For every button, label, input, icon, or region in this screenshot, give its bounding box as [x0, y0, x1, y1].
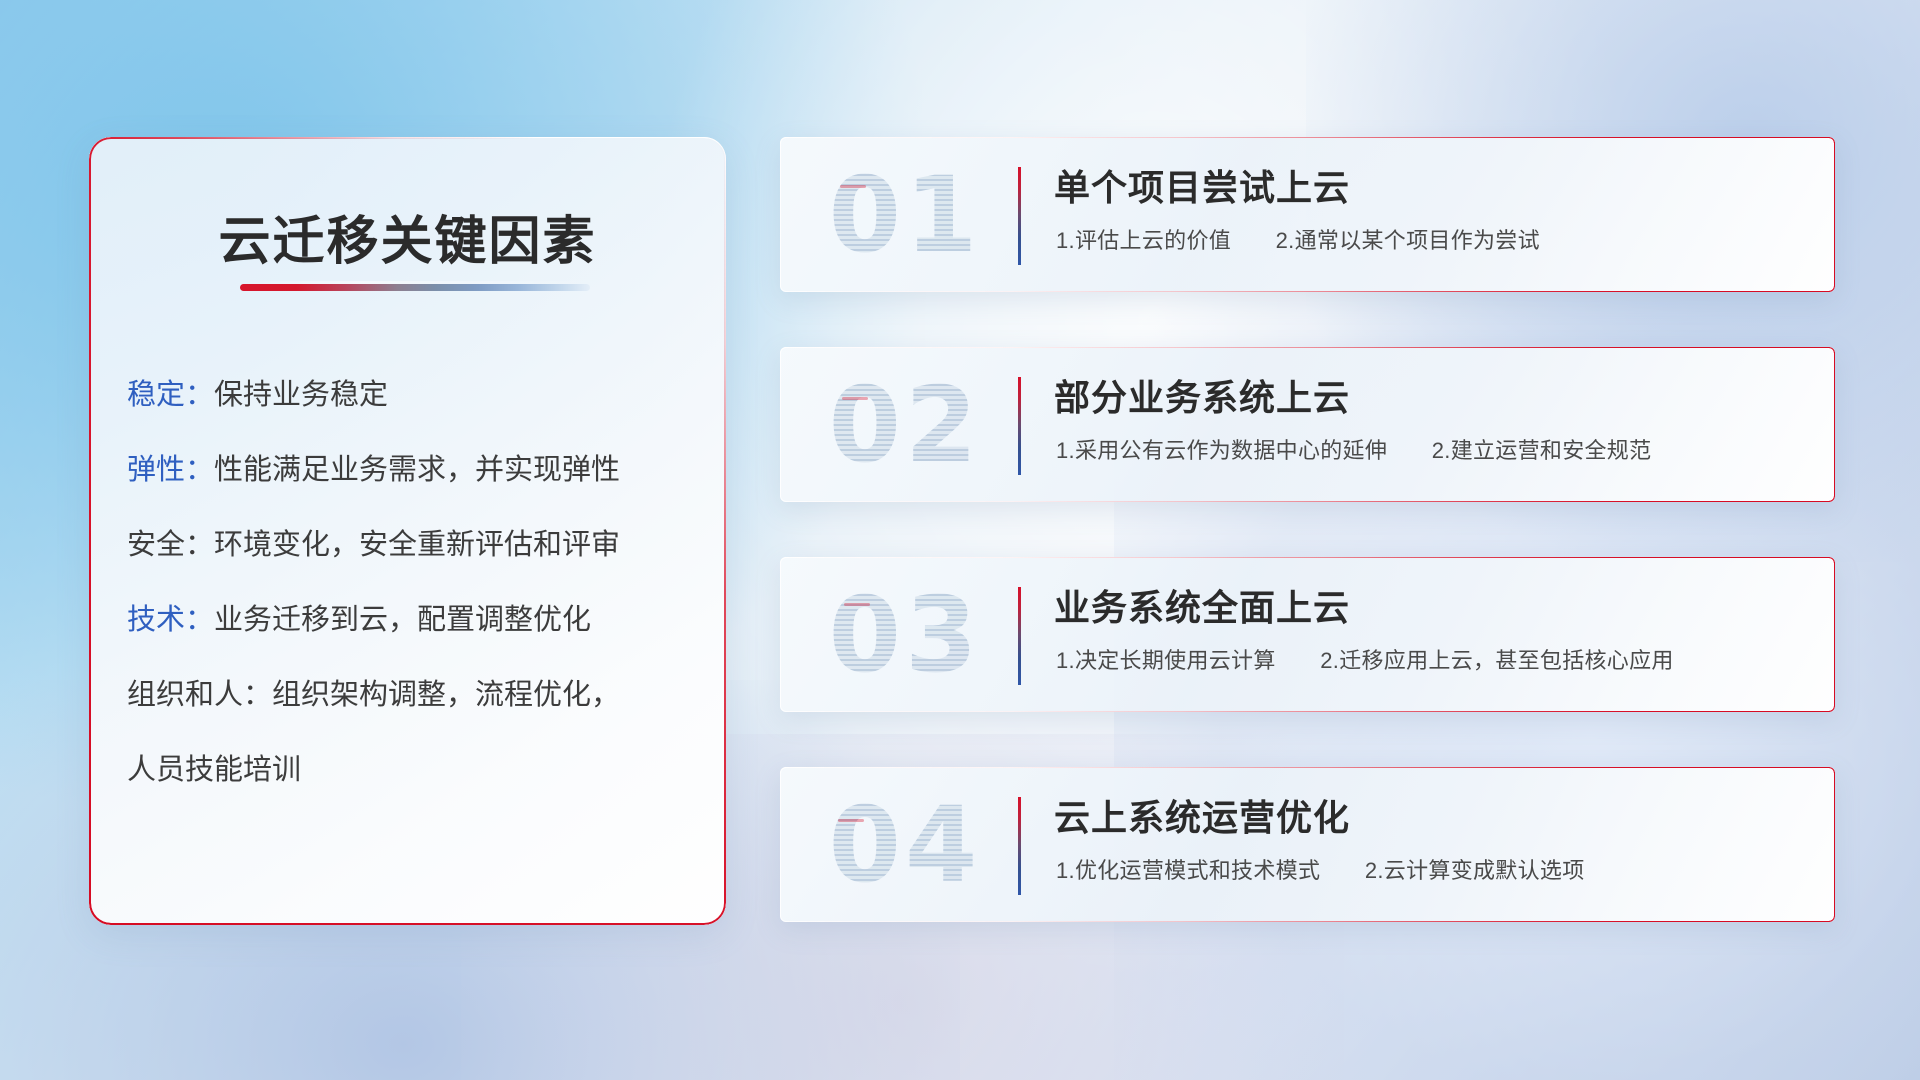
- list-item: 组织和人：组织架构调整，流程优化，: [127, 681, 704, 710]
- number-speck-icon: [838, 819, 864, 822]
- stage-card-01[interactable]: 01 01 单个项目尝试上云 1.评估上云的价值 2.通常以某个项目作为尝试: [780, 137, 1835, 292]
- card-accent-divider: [1018, 797, 1021, 895]
- stage-title: 部分业务系统上云: [1054, 369, 1350, 421]
- stage-subtitle: 1.决定长期使用云计算 2.迁移应用上云，甚至包括核心应用: [1056, 643, 1674, 675]
- stage-title: 业务系统全面上云: [1054, 579, 1350, 631]
- key-factors-panel: 云迁移关键因素 稳定：保持业务稳定 弹性：性能满足业务需求，并实现弹性 安全：环…: [89, 137, 726, 925]
- stage-subtitle: 1.采用公有云作为数据中心的延伸 2.建立运营和安全规范: [1056, 433, 1651, 465]
- stage-subtitle: 1.评估上云的价值 2.通常以某个项目作为尝试: [1056, 223, 1540, 255]
- factor-text: 业务迁移到云，配置调整优化: [214, 604, 591, 636]
- slide-stage: 云迁移关键因素 稳定：保持业务稳定 弹性：性能满足业务需求，并实现弹性 安全：环…: [0, 0, 1920, 1080]
- factor-label: 组织和人：: [127, 679, 272, 711]
- stage-card-03[interactable]: 03 03 业务系统全面上云 1.决定长期使用云计算 2.迁移应用上云，甚至包括…: [780, 557, 1835, 712]
- factor-label: 安全：: [127, 529, 214, 561]
- stage-number: 04: [810, 789, 1000, 901]
- factor-label: 技术：: [127, 604, 214, 636]
- stage-subtitle: 1.优化运营模式和技术模式 2.云计算变成默认选项: [1056, 853, 1585, 885]
- page-title: 云迁移关键因素: [89, 199, 726, 274]
- number-speck-icon: [844, 603, 870, 606]
- factor-text: 组织架构调整，流程优化，: [272, 679, 620, 711]
- stage-card-04[interactable]: 04 04 云上系统运营优化 1.优化运营模式和技术模式 2.云计算变成默认选项: [780, 767, 1835, 922]
- list-item: 安全：环境变化，安全重新评估和评审: [127, 531, 704, 560]
- card-accent-divider: [1018, 377, 1021, 475]
- factor-label: 弹性：: [127, 454, 214, 486]
- list-item: 技术：业务迁移到云，配置调整优化: [127, 606, 704, 635]
- number-speck-icon: [842, 397, 868, 400]
- list-item: 稳定：保持业务稳定: [127, 381, 704, 410]
- title-underline-accent: [240, 284, 590, 291]
- stage-title: 单个项目尝试上云: [1054, 159, 1350, 211]
- card-accent-divider: [1018, 167, 1021, 265]
- number-speck-icon: [840, 185, 866, 188]
- stage-number: 02: [810, 369, 1000, 481]
- list-item: 弹性：性能满足业务需求，并实现弹性: [127, 456, 704, 485]
- factor-text: 保持业务稳定: [214, 379, 388, 411]
- stage-card-02[interactable]: 02 02 部分业务系统上云 1.采用公有云作为数据中心的延伸 2.建立运营和安…: [780, 347, 1835, 502]
- list-item: 人员技能培训: [127, 756, 704, 785]
- card-accent-divider: [1018, 587, 1021, 685]
- factor-text: 性能满足业务需求，并实现弹性: [214, 454, 620, 486]
- stage-number: 01: [810, 159, 1000, 271]
- stage-title: 云上系统运营优化: [1054, 789, 1350, 841]
- factor-label: 稳定：: [127, 379, 214, 411]
- key-factors-list: 稳定：保持业务稳定 弹性：性能满足业务需求，并实现弹性 安全：环境变化，安全重新…: [127, 381, 704, 785]
- factor-text: 人员技能培训: [127, 754, 301, 786]
- stage-number: 03: [810, 579, 1000, 691]
- factor-text: 环境变化，安全重新评估和评审: [214, 529, 620, 561]
